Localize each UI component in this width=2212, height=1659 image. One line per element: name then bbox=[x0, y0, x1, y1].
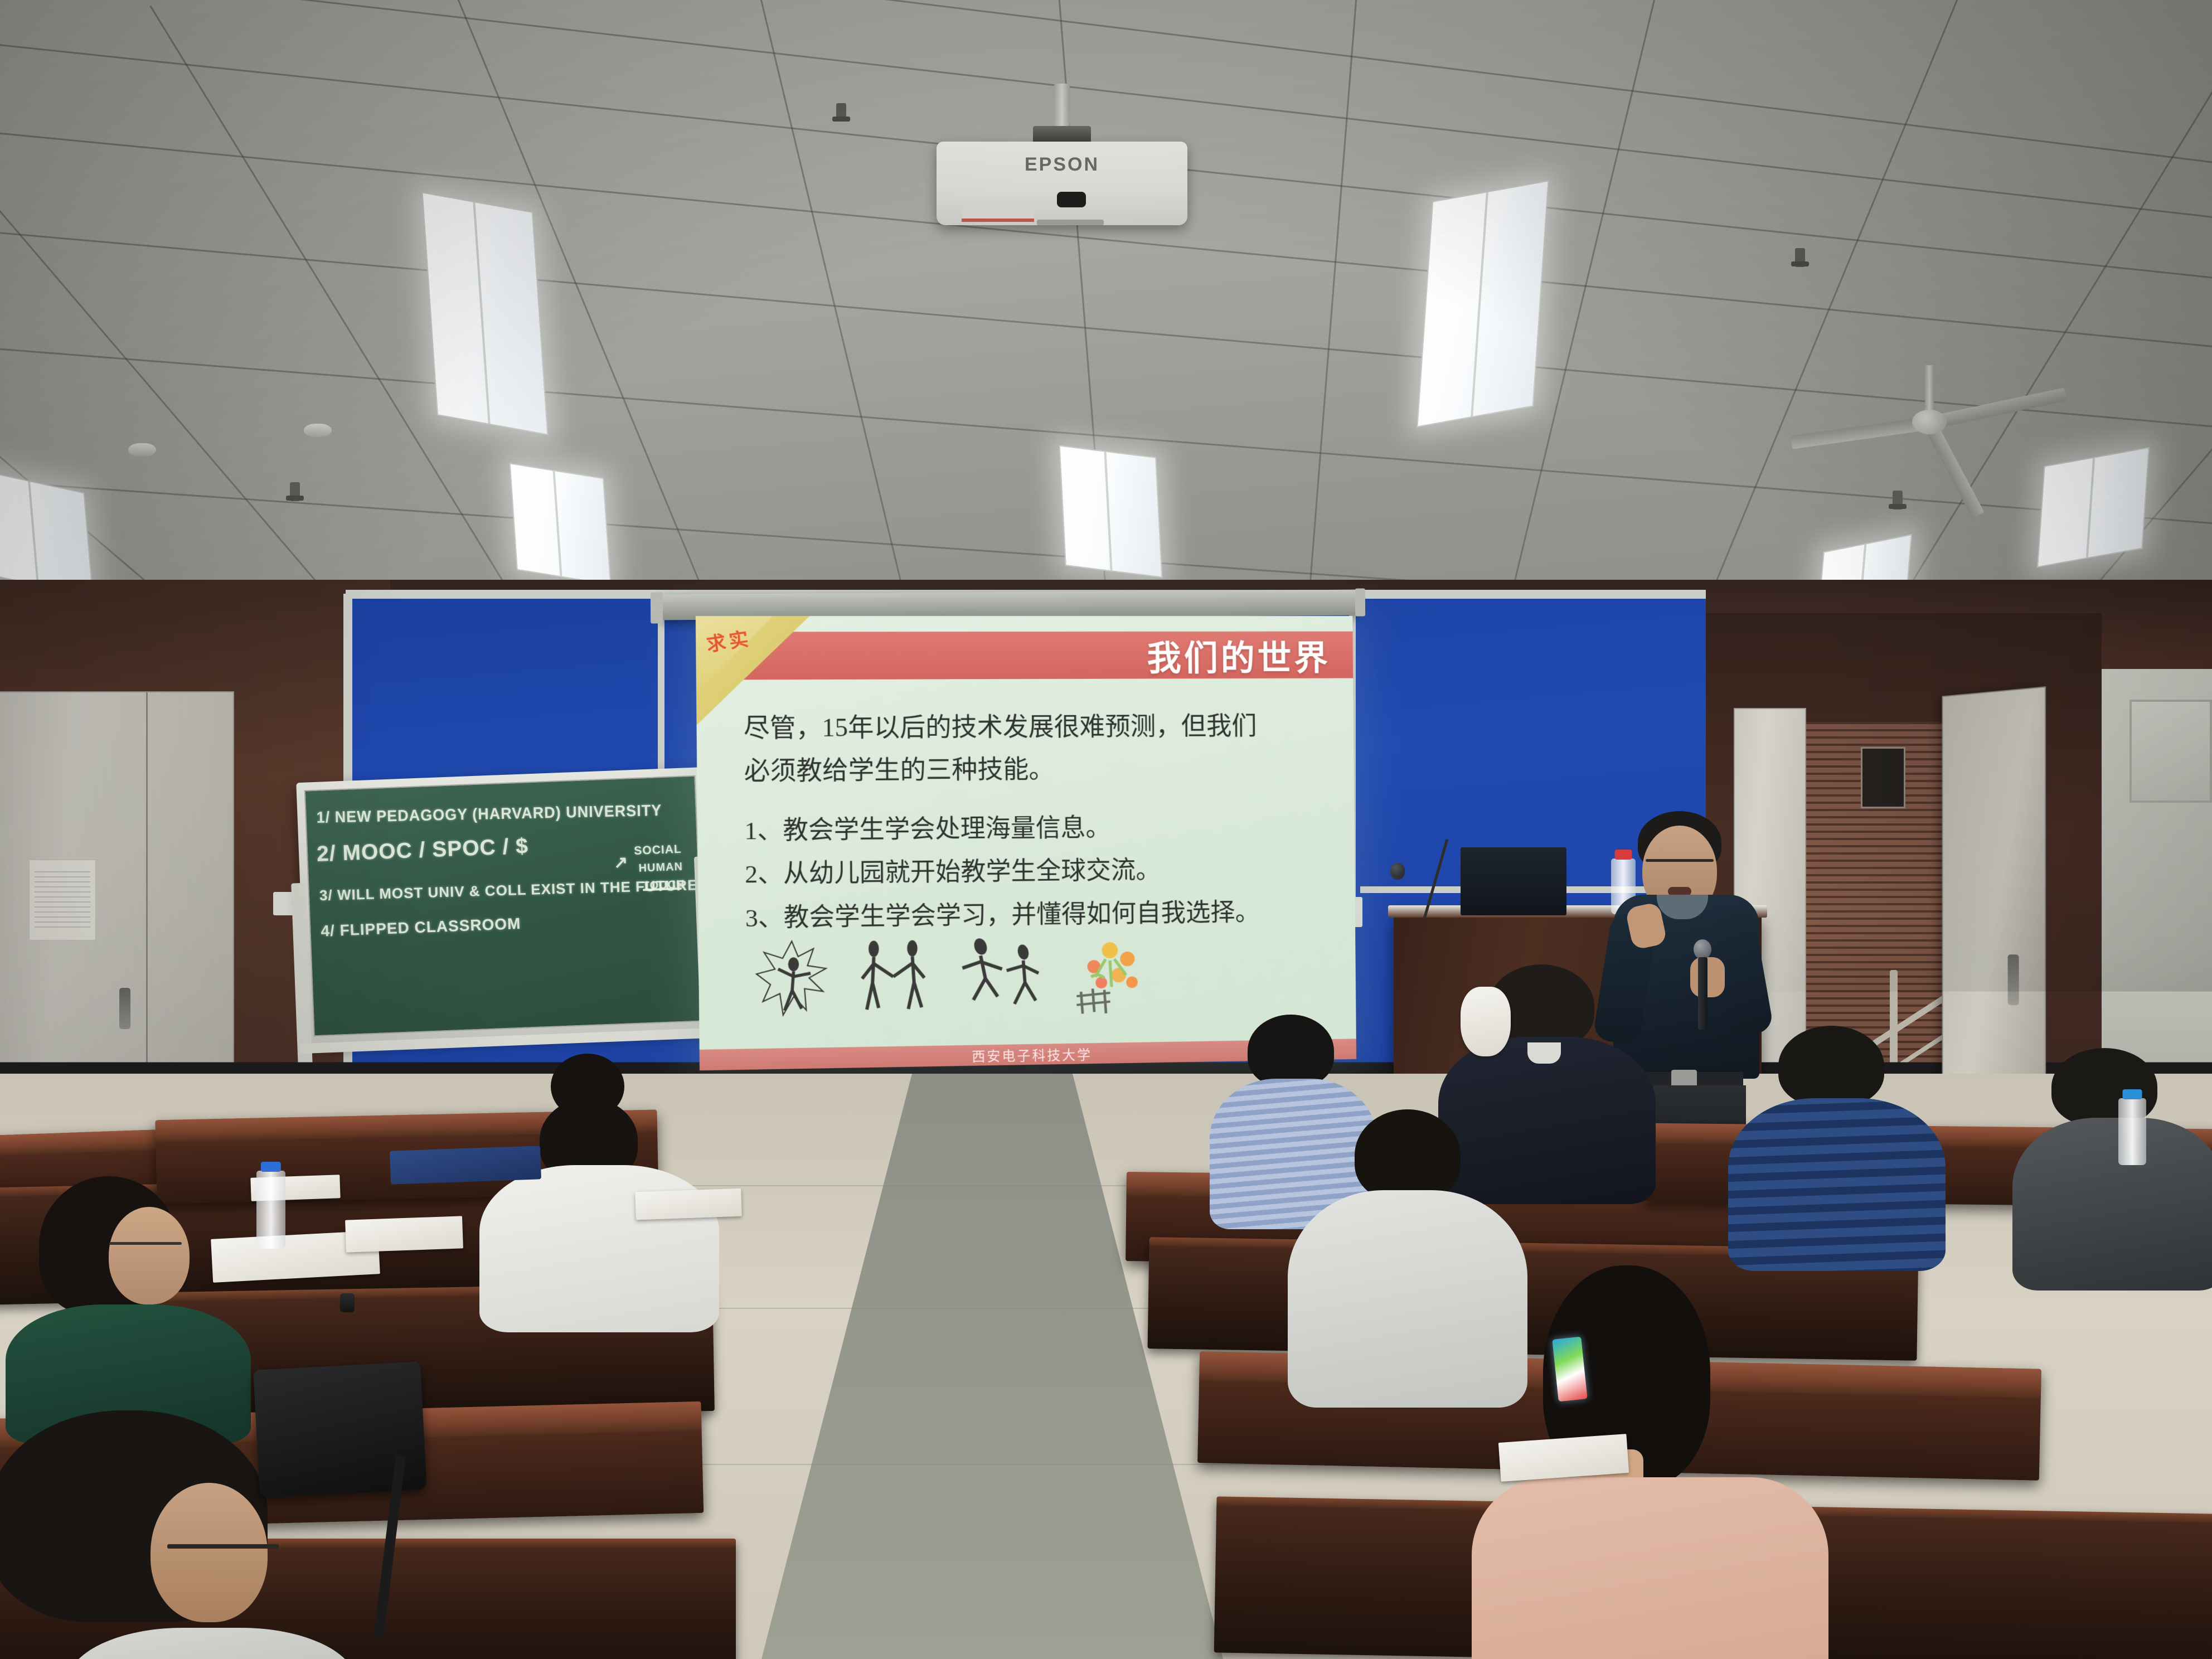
torso bbox=[2012, 1118, 2212, 1291]
projector-brand-label: EPSON bbox=[937, 154, 1187, 176]
bench-seat-knob bbox=[340, 1293, 355, 1312]
notebook bbox=[345, 1216, 463, 1252]
blackboard-note-human: HUMAN bbox=[638, 861, 683, 875]
slide-lead-line-2: 必须教给学生的三种技能。 bbox=[744, 746, 1322, 792]
fan-rod bbox=[1925, 365, 1934, 413]
slide-footer-text: 西安电子科技大学 bbox=[972, 1044, 1092, 1065]
slide-figures bbox=[752, 925, 1279, 1022]
slide-point-1: 1、教会学生学会处理海量信息。 bbox=[744, 805, 1322, 853]
head bbox=[151, 1483, 268, 1622]
blackboard-line-1: 1/ NEW PEDAGOGY (HARVARD) UNIVERSITY bbox=[316, 802, 662, 827]
blackboard: 1/ NEW PEDAGOGY (HARVARD) UNIVERSITY 2/ … bbox=[296, 767, 713, 1045]
blackboard-note-social: SOCIAL bbox=[634, 843, 682, 858]
hair bbox=[1355, 1109, 1461, 1201]
holding-hands-figures-icon bbox=[853, 935, 935, 1021]
water-bottle bbox=[2118, 1098, 2146, 1165]
blackboard-line-2: 2/ MOOC / SPOC / $ bbox=[316, 834, 528, 867]
projection-screen: 我们的世界 求实 尽管，15年以后的技术发展很难预测，但我们 必须教给学生的三种… bbox=[696, 616, 1356, 1070]
slide-lead-line-1: 尽管，15年以后的技术发展很难预测，但我们 bbox=[744, 705, 1322, 749]
projector-mount-pole bbox=[1054, 84, 1070, 132]
fan-hub bbox=[1912, 410, 1947, 434]
gooseneck-microphone-head bbox=[1390, 863, 1405, 877]
sprinkler-head bbox=[836, 103, 846, 118]
screen-case-endcap bbox=[1355, 589, 1365, 617]
smoke-detector bbox=[128, 443, 156, 457]
torso bbox=[1728, 1098, 1946, 1271]
torso bbox=[1472, 1477, 1828, 1659]
water-bottle bbox=[256, 1171, 285, 1249]
blackboard-arrow: ↗ bbox=[614, 852, 629, 872]
slide-point-2: 2、从幼儿园就开始教学生全球交流。 bbox=[745, 847, 1323, 896]
blackboard-line-3: 3/ WILL MOST UNIV & COLL EXIST IN THE FU… bbox=[319, 876, 698, 904]
hair bbox=[1248, 1015, 1334, 1087]
collar bbox=[1527, 1042, 1561, 1064]
sprinkler-head bbox=[1893, 491, 1903, 510]
blackboard-surface: 1/ NEW PEDAGOGY (HARVARD) UNIVERSITY 2/ … bbox=[304, 775, 705, 1037]
ceiling-grid-line bbox=[2208, 90, 2212, 594]
sprinkler-head bbox=[290, 482, 300, 501]
tissue bbox=[1461, 987, 1511, 1056]
audience-right-grey bbox=[2012, 1048, 2212, 1282]
laptop bbox=[1461, 847, 1566, 915]
notice-board bbox=[2129, 700, 2212, 803]
bottle-cap bbox=[2123, 1089, 2142, 1099]
bottle-cap bbox=[261, 1162, 281, 1172]
door-handle[interactable] bbox=[119, 988, 130, 1029]
screen-case-endcap bbox=[651, 592, 663, 623]
ceiling-light-panel bbox=[421, 192, 548, 435]
slide-body: 尽管，15年以后的技术发展很难预测，但我们 必须教给学生的三种技能。 1、教会学… bbox=[744, 705, 1323, 940]
desk-item-blue-folder bbox=[390, 1146, 541, 1184]
smoke-detector bbox=[304, 424, 332, 437]
ceiling-light-panel bbox=[1059, 445, 1162, 578]
microphone-body bbox=[1698, 957, 1707, 1030]
head bbox=[109, 1207, 190, 1304]
notebook bbox=[1493, 1190, 1651, 1240]
glasses-icon bbox=[109, 1242, 182, 1245]
slide-title: 我们的世界 bbox=[1147, 633, 1331, 677]
ceiling-light-panel bbox=[1417, 180, 1549, 428]
projector-lens bbox=[1057, 192, 1086, 207]
notebook bbox=[635, 1189, 742, 1220]
jumping-figure-icon bbox=[752, 937, 832, 1022]
slide: 我们的世界 求实 尽管，15年以后的技术发展很难预测，但我们 必须教给学生的三种… bbox=[696, 616, 1356, 1070]
projector: EPSON bbox=[937, 84, 1187, 229]
microphone bbox=[1694, 939, 1711, 959]
audience-near-podium bbox=[1449, 981, 1527, 1076]
hair bbox=[1778, 1026, 1884, 1107]
ceiling-grid-line bbox=[1294, 0, 1361, 594]
ceiling-light-panel bbox=[510, 463, 612, 585]
running-figures-icon bbox=[955, 934, 1048, 1018]
ceiling-grid-line bbox=[750, 0, 947, 594]
projector-foot bbox=[1037, 220, 1104, 225]
door-notice-sheet bbox=[29, 860, 96, 940]
projector-sticker bbox=[962, 207, 1034, 222]
blackboard-line-4: 4/ FLIPPED CLASSROOM bbox=[321, 915, 521, 940]
door-handle[interactable] bbox=[2008, 954, 2019, 1005]
notice-text-lines bbox=[35, 871, 90, 929]
audience-navy-striped-polo bbox=[1728, 1026, 1940, 1265]
ceiling-light-panel bbox=[2037, 447, 2150, 568]
audience-green-top-glasses bbox=[6, 1176, 245, 1433]
projector-body: EPSON bbox=[937, 142, 1187, 225]
ceiling-fan bbox=[1912, 365, 1947, 454]
presenter-hand-right bbox=[1690, 957, 1725, 997]
sprinkler-head bbox=[1795, 248, 1805, 267]
stairwell-window bbox=[1861, 747, 1905, 808]
ceiling-grid-line bbox=[1827, 6, 2212, 594]
lecture-hall-photo: EPSON bbox=[0, 0, 2212, 1659]
flowers-fence-icon bbox=[1069, 933, 1149, 1017]
glasses-icon bbox=[1646, 859, 1714, 862]
glasses-icon bbox=[167, 1544, 279, 1549]
